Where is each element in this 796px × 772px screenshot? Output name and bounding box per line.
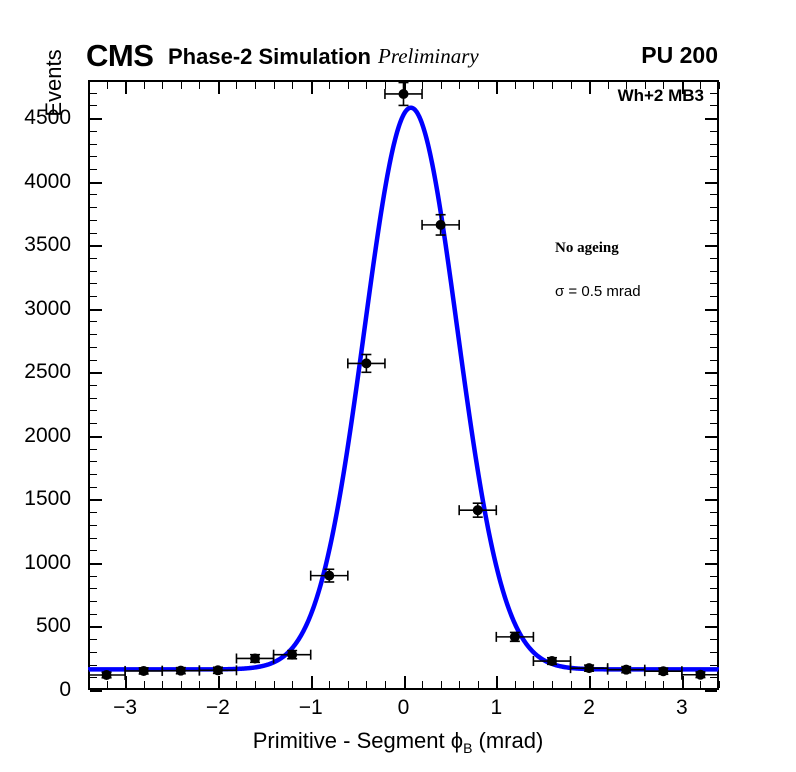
- x-axis-tick-label: −3: [95, 696, 155, 720]
- preliminary-label: Preliminary: [378, 46, 479, 67]
- data-points-group: [88, 83, 719, 680]
- chart-header: CMS Phase-2 Simulation Preliminary PU 20…: [0, 0, 796, 80]
- x-axis-minor-tick-top: [719, 82, 720, 89]
- data-marker: [658, 666, 668, 676]
- x-axis-tick-label: −2: [188, 696, 248, 720]
- data-marker: [361, 358, 371, 368]
- data-marker: [213, 665, 223, 675]
- data-point: [571, 663, 608, 673]
- y-axis-major-tick: [90, 690, 102, 692]
- x-axis-title-subscript: B: [463, 740, 472, 756]
- data-marker: [399, 89, 409, 99]
- y-axis-major-tick-right: [705, 690, 717, 692]
- x-axis-tick-label: 3: [652, 696, 712, 720]
- data-marker: [436, 220, 446, 230]
- x-axis-tick-label: 2: [559, 696, 619, 720]
- gaussian-fit-curve: [88, 108, 719, 670]
- data-point: [199, 665, 236, 675]
- data-marker: [510, 632, 520, 642]
- data-point: [608, 665, 645, 675]
- data-marker: [584, 663, 594, 673]
- data-marker: [695, 670, 705, 680]
- y-axis-tick-label: 2000: [0, 424, 71, 448]
- cms-logo: CMS: [86, 40, 153, 71]
- y-axis-tick-label: 0: [0, 678, 71, 702]
- data-point: [385, 83, 422, 106]
- x-axis-title-main: Primitive - Segment ϕ: [253, 728, 463, 753]
- phase2-simulation-label: Phase-2 Simulation: [168, 46, 371, 68]
- data-point: [348, 355, 385, 373]
- y-axis-tick-label: 2500: [0, 360, 71, 384]
- data-marker: [287, 650, 297, 660]
- y-axis-tick-label: 4000: [0, 170, 71, 194]
- y-axis-tick-label: 3000: [0, 297, 71, 321]
- x-axis-minor-tick: [719, 681, 720, 688]
- x-axis-title: Primitive - Segment ϕB (mrad): [0, 728, 796, 756]
- y-axis-tick-label: 4500: [0, 106, 71, 130]
- y-axis-tick-label: 3500: [0, 233, 71, 257]
- x-axis-tick-label: −1: [281, 696, 341, 720]
- data-marker: [547, 656, 557, 666]
- data-marker: [139, 666, 149, 676]
- data-marker: [102, 670, 112, 680]
- data-marker: [324, 571, 334, 581]
- plot-data-area: [88, 80, 719, 690]
- data-marker: [176, 666, 186, 676]
- x-axis-tick-label: 1: [466, 696, 526, 720]
- y-axis-tick-label: 1500: [0, 487, 71, 511]
- y-axis-tick-label: 1000: [0, 551, 71, 575]
- y-axis-tick-label: 500: [0, 614, 71, 638]
- data-point: [422, 215, 459, 235]
- x-axis-title-unit: (mrad): [472, 728, 543, 753]
- x-axis-tick-label: 0: [374, 696, 434, 720]
- data-marker: [250, 653, 260, 663]
- pileup-label: PU 200: [641, 44, 718, 67]
- data-marker: [473, 505, 483, 515]
- data-point: [496, 632, 533, 642]
- chart-canvas: CMS Phase-2 Simulation Preliminary PU 20…: [0, 0, 796, 772]
- data-point: [311, 569, 348, 582]
- data-point: [459, 503, 496, 517]
- data-point: [236, 653, 273, 663]
- data-marker: [621, 665, 631, 675]
